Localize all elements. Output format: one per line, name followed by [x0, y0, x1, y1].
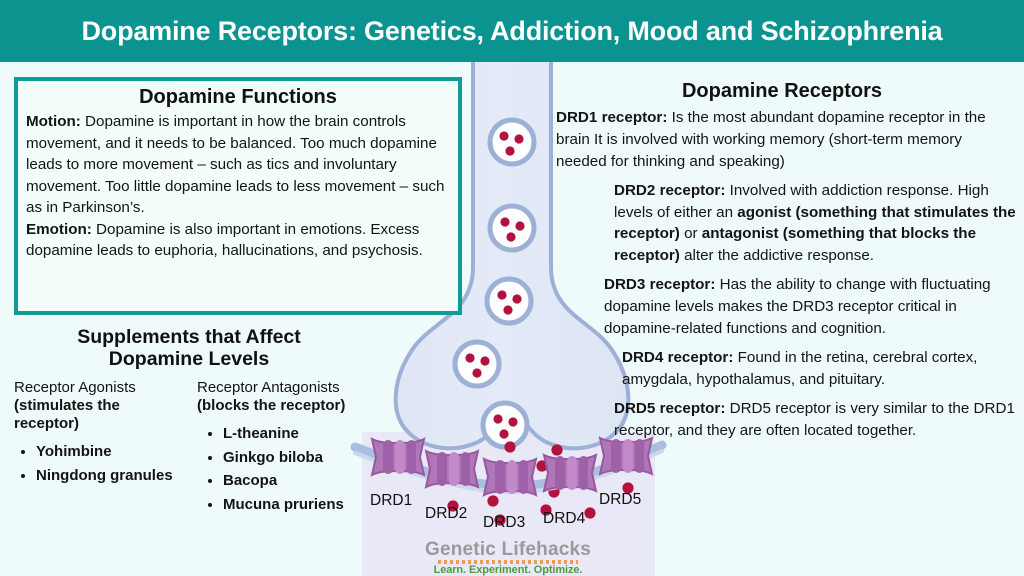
brand-logo: Genetic Lifehacks Learn. Experiment. Opt…: [418, 540, 598, 576]
antagonists-heading-bold: (blocks the receptor): [197, 397, 345, 414]
list-item: Mucuna pruriens: [223, 494, 364, 516]
emotion-paragraph: Emotion: Dopamine is also important in e…: [26, 219, 452, 262]
supplements-section: Supplements that Affect Dopamine Levels …: [14, 326, 364, 518]
dopamine-functions-body: Motion: Dopamine is important in how the…: [18, 111, 458, 262]
receptor-drd1: [372, 439, 424, 475]
agonists-heading-bold: (stimulates the receptor): [14, 397, 120, 432]
motion-paragraph: Motion: Dopamine is important in how the…: [26, 111, 452, 219]
dopamine-functions-box: Dopamine Functions Motion: Dopamine is i…: [14, 77, 462, 315]
supplements-columns: Receptor Agonists (stimulates the recept…: [14, 379, 364, 518]
supplements-title: Supplements that Affect Dopamine Levels: [14, 326, 364, 371]
list-item: Bacopa: [223, 470, 364, 492]
receptor-label-drd3: DRD3: [483, 514, 525, 532]
receptor-paragraph-drd1: DRD1 receptor: Is the most abundant dopa…: [556, 107, 1008, 173]
receptor-label-drd4: DRD4: [543, 510, 585, 528]
vesicle: [487, 279, 531, 323]
receptor-drd3: [484, 459, 536, 495]
receptor-drd2: [426, 451, 478, 487]
receptor-paragraph-drd3: DRD3 receptor: Has the ability to change…: [604, 274, 1018, 340]
agonists-heading-plain: Receptor Agonists: [14, 379, 136, 396]
agonists-list: Yohimbine Ningdong granules: [14, 441, 181, 487]
list-item: L-theanine: [223, 423, 364, 445]
logo-tagline: Learn. Experiment. Optimize.: [418, 565, 598, 576]
agonists-column: Receptor Agonists (stimulates the recept…: [14, 379, 181, 518]
receptor-drd4: [544, 455, 596, 491]
drd3-label: DRD3 receptor:: [604, 276, 715, 293]
vesicle: [455, 342, 499, 386]
dopamine-receptors-title: Dopamine Receptors: [556, 80, 1018, 103]
receptor-paragraph-drd2: DRD2 receptor: Involved with addiction r…: [614, 180, 1018, 268]
receptor-label-drd1: DRD1: [370, 492, 412, 510]
drd2-text-2: or: [680, 225, 702, 242]
agonists-heading: Receptor Agonists (stimulates the recept…: [14, 379, 181, 433]
motion-text: Dopamine is important in how the brain c…: [26, 113, 444, 216]
list-item: Ginkgo biloba: [223, 447, 364, 469]
receptor-label-drd5: DRD5: [599, 491, 641, 509]
antagonists-list: L-theanine Ginkgo biloba Bacopa Mucuna p…: [197, 423, 364, 516]
antagonists-column: Receptor Antagonists (blocks the recepto…: [197, 379, 364, 518]
motion-label: Motion:: [26, 113, 81, 130]
receptor-paragraph-drd5: DRD5 receptor: DRD5 receptor is very sim…: [614, 398, 1018, 442]
receptor-paragraph-drd4: DRD4 receptor: Found in the retina, cere…: [622, 347, 1018, 391]
antagonists-heading: Receptor Antagonists (blocks the recepto…: [197, 379, 364, 415]
vesicle: [490, 206, 534, 250]
dopamine-receptors-section: Dopamine Receptors DRD1 receptor: Is the…: [556, 80, 1018, 448]
drd1-label: DRD1 receptor:: [556, 109, 667, 126]
supplements-title-line1: Supplements that Affect: [14, 326, 364, 348]
receptor-label-drd2: DRD2: [425, 505, 467, 523]
header-bar: Dopamine Receptors: Genetics, Addiction,…: [0, 0, 1024, 62]
dopamine-functions-title: Dopamine Functions: [18, 86, 458, 109]
drd5-label: DRD5 receptor:: [614, 400, 725, 417]
emotion-label: Emotion:: [26, 221, 92, 238]
logo-divider-dots: [438, 560, 578, 564]
infographic-canvas: Dopamine Receptors: Genetics, Addiction,…: [0, 0, 1024, 576]
drd4-label: DRD4 receptor:: [622, 349, 733, 366]
vesicle: [490, 120, 534, 164]
drd2-label: DRD2 receptor:: [614, 182, 725, 199]
vesicle: [483, 403, 527, 447]
drd2-text-3: alter the addictive response.: [680, 247, 874, 264]
list-item: Yohimbine: [36, 441, 181, 463]
list-item: Ningdong granules: [36, 465, 181, 487]
page-title: Dopamine Receptors: Genetics, Addiction,…: [82, 16, 943, 47]
supplements-title-line2: Dopamine Levels: [14, 348, 364, 370]
antagonists-heading-plain: Receptor Antagonists: [197, 379, 340, 396]
logo-name: Genetic Lifehacks: [418, 540, 598, 559]
